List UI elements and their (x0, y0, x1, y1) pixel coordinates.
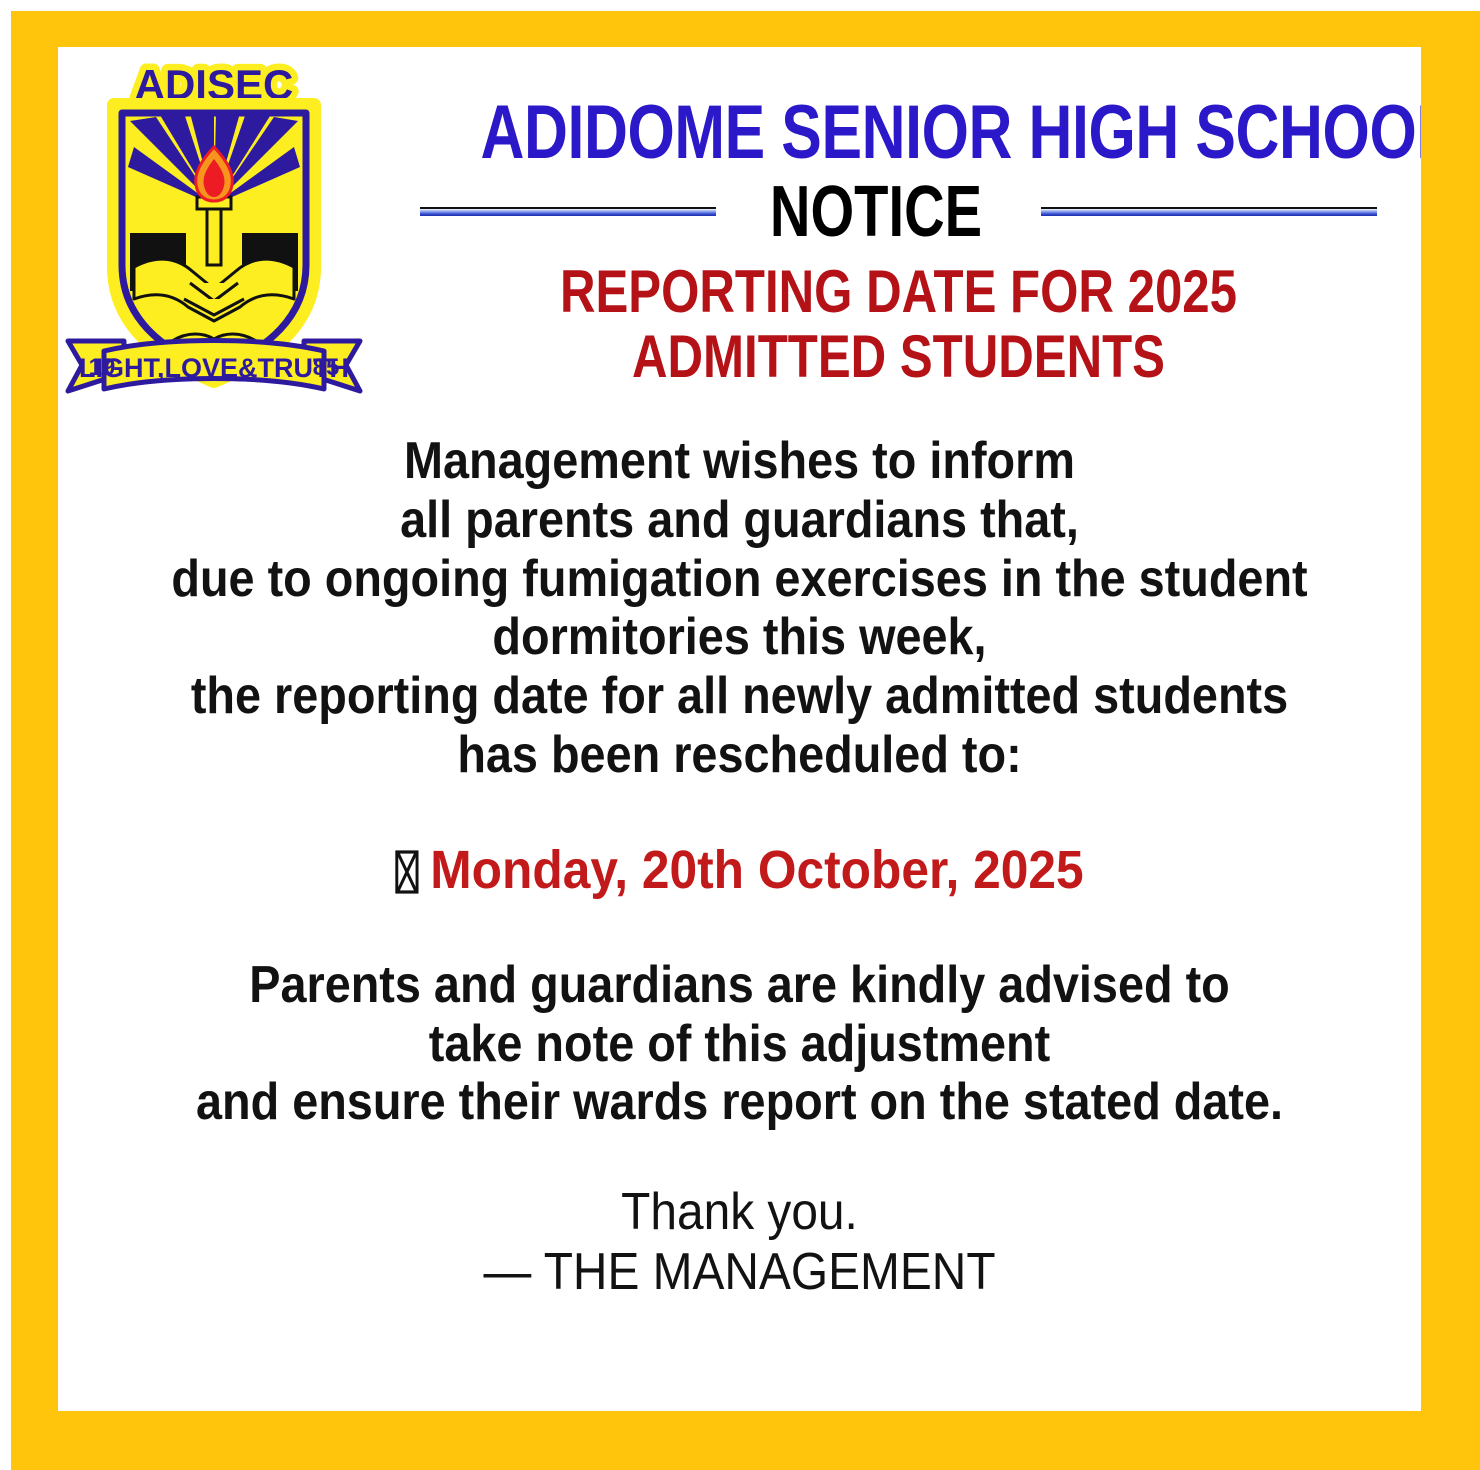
body-line-4: dormitories this week, (126, 608, 1353, 667)
notice-header: ADIDOME SENIOR HIGH SCHOOL NOTICE REPORT… (376, 97, 1421, 390)
decorative-rule-right (1041, 207, 1377, 216)
poster-content: ADISEC ADISEC (58, 47, 1421, 1411)
body-line-2-pre: all (400, 491, 465, 549)
body-spacer-after-date (58, 900, 1421, 956)
body-line-2-strong: parents and guardians (465, 491, 967, 549)
reporting-date-line: Monday, 20th October, 2025 (113, 841, 1367, 900)
advice-line-1: Parents and guardians are kindly advised… (126, 956, 1353, 1015)
decorative-rule-left (420, 207, 716, 216)
notice-subtitle-line-1: REPORTING DATE FOR 2025 (470, 260, 1327, 325)
body-line-5-strong: reporting date (274, 667, 589, 725)
body-line-6-strong: rescheduled (673, 726, 949, 784)
closing-thanks: Thank you. (113, 1182, 1367, 1242)
notice-word: NOTICE (770, 176, 982, 248)
crest-ribbon-motto: LIGHT,LOVE&TRUTH (79, 353, 349, 383)
school-crest-logo: ADISEC ADISEC (64, 55, 364, 407)
missing-glyph-box-icon (395, 850, 419, 894)
body-spacer-before-closing (58, 1132, 1421, 1182)
body-line-5-pre: the (191, 667, 274, 725)
body-line-3: due to ongoing fumigation exercises in t… (126, 550, 1353, 609)
body-line-5-post: for all newly admitted students (589, 667, 1289, 725)
body-line-5: the reporting date for all newly admitte… (126, 667, 1353, 726)
advice-line-2: take note of this adjustment (126, 1015, 1353, 1074)
body-spacer-before-date (58, 785, 1421, 841)
notice-poster: ADISEC ADISEC (0, 0, 1480, 1470)
notice-body: Management wishes to inform all parents … (58, 432, 1421, 1303)
advice-line-3: and ensure their wards report on the sta… (126, 1073, 1353, 1132)
reporting-date-text: Monday, 20th October, 2025 (430, 840, 1083, 900)
body-line-6-pre: has been (457, 726, 673, 784)
notice-subtitle-line-2: ADMITTED STUDENTS (470, 325, 1327, 390)
notice-title-row: NOTICE (376, 176, 1421, 248)
body-line-2-post: that, (967, 491, 1079, 549)
body-line-6: has been rescheduled to: (126, 726, 1353, 785)
body-line-2: all parents and guardians that, (126, 491, 1353, 550)
closing-signature: — THE MANAGEMENT (113, 1242, 1367, 1302)
school-name-title: ADIDOME SENIOR HIGH SCHOOL (481, 97, 1317, 170)
body-line-1: Management wishes to inform (126, 432, 1353, 491)
body-line-6-post: to: (949, 726, 1022, 784)
